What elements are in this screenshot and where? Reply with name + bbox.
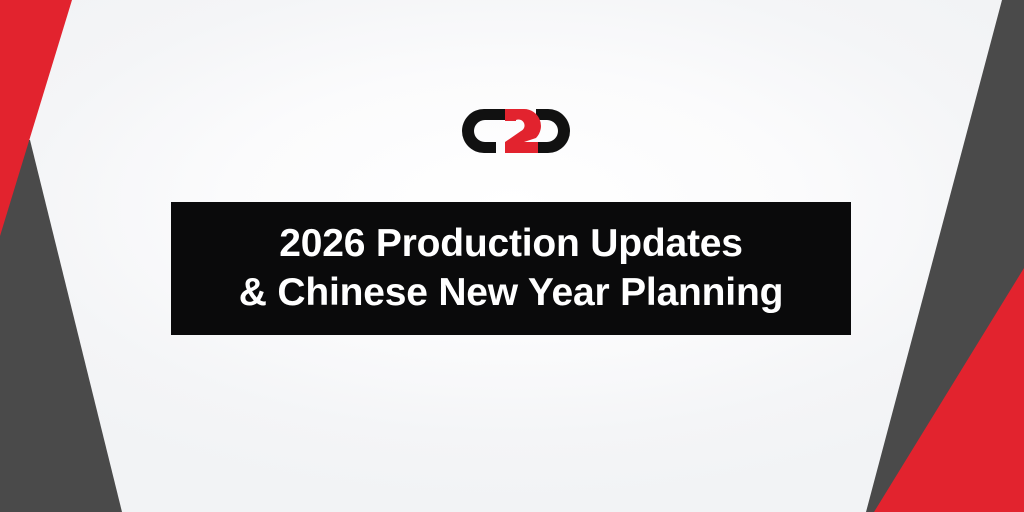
logo-two-stem: [505, 109, 516, 121]
title-line-2: & Chinese New Year Planning: [239, 269, 783, 318]
title-plate: 2026 Production Updates & Chinese New Ye…: [171, 202, 851, 335]
banner-canvas: 2026 Production Updates & Chinese New Ye…: [0, 0, 1024, 512]
c2d-logo: [462, 106, 570, 156]
logo-c-icon: [462, 109, 496, 153]
logo-d-icon: [536, 109, 570, 153]
title-line-1: 2026 Production Updates: [279, 220, 743, 269]
